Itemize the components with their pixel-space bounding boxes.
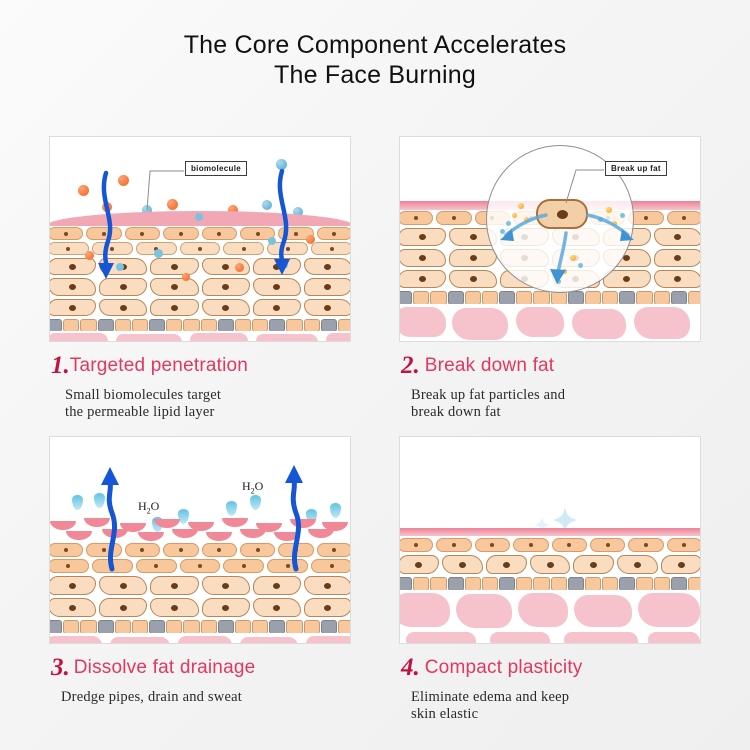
caption-step-2: 2.Break down fat Break up fat particles … xyxy=(399,352,701,421)
illustration-break-down-fat: Break up fat xyxy=(399,136,701,342)
dispersion-arrows xyxy=(400,137,701,342)
step-card-2: Break up fat xyxy=(399,136,701,421)
subcutaneous-fat-layer xyxy=(399,590,701,644)
step-card-3: H2O H2O xyxy=(49,436,351,706)
skin-cross-section xyxy=(399,528,701,643)
drainage-arrow-right xyxy=(50,437,351,644)
skin-surface-layer xyxy=(399,528,701,536)
title-line-2: The Face Burning xyxy=(0,60,750,90)
headline-step-1: 1.Targeted penetration xyxy=(51,352,351,380)
penetration-arrow-right xyxy=(50,137,351,342)
step-description-4: Eliminate edema and keep skin elastic xyxy=(401,689,701,723)
caption-step-4: 4.Compact plasticity Eliminate edema and… xyxy=(399,654,701,723)
step-description-2: Break up fat particles and break down fa… xyxy=(401,387,701,421)
step-description-3: Dredge pipes, drain and sweat xyxy=(51,689,351,706)
headline-step-2: 2.Break down fat xyxy=(401,352,701,380)
step-number-1: 1. xyxy=(51,352,70,379)
step-heading-4: Compact plasticity xyxy=(425,657,583,678)
caption-step-3: 3.Dissolve fat drainage Dredge pipes, dr… xyxy=(49,654,351,706)
headline-step-4: 4.Compact plasticity xyxy=(401,654,701,682)
dermis-row-1 xyxy=(399,555,701,574)
step-number-3: 3. xyxy=(51,654,70,681)
illustration-targeted-penetration: biomolecule xyxy=(49,136,351,342)
step-description-1: Small biomolecules target the permeable … xyxy=(51,387,351,421)
illustration-dissolve-fat-drainage: H2O H2O xyxy=(49,436,351,644)
step-heading-3: Dissolve fat drainage xyxy=(74,657,256,678)
step-number-4: 4. xyxy=(401,654,420,681)
step-heading-1: Targeted penetration xyxy=(70,355,248,376)
epidermis-row-1 xyxy=(399,538,701,552)
step-card-1: biomolecule xyxy=(49,136,351,421)
headline-step-3: 3.Dissolve fat drainage xyxy=(51,654,351,682)
step-card-4: 4.Compact plasticity Eliminate edema and… xyxy=(399,436,701,723)
steps-grid: biomolecule xyxy=(49,136,701,732)
step-number-2: 2. xyxy=(401,352,420,379)
basal-layer xyxy=(399,577,701,591)
title-line-1: The Core Component Accelerates xyxy=(0,30,750,60)
step-heading-2: Break down fat xyxy=(425,355,555,376)
illustration-compact-plasticity xyxy=(399,436,701,644)
caption-step-1: 1.Targeted penetration Small biomolecule… xyxy=(49,352,351,421)
page-title: The Core Component Accelerates The Face … xyxy=(0,30,750,90)
